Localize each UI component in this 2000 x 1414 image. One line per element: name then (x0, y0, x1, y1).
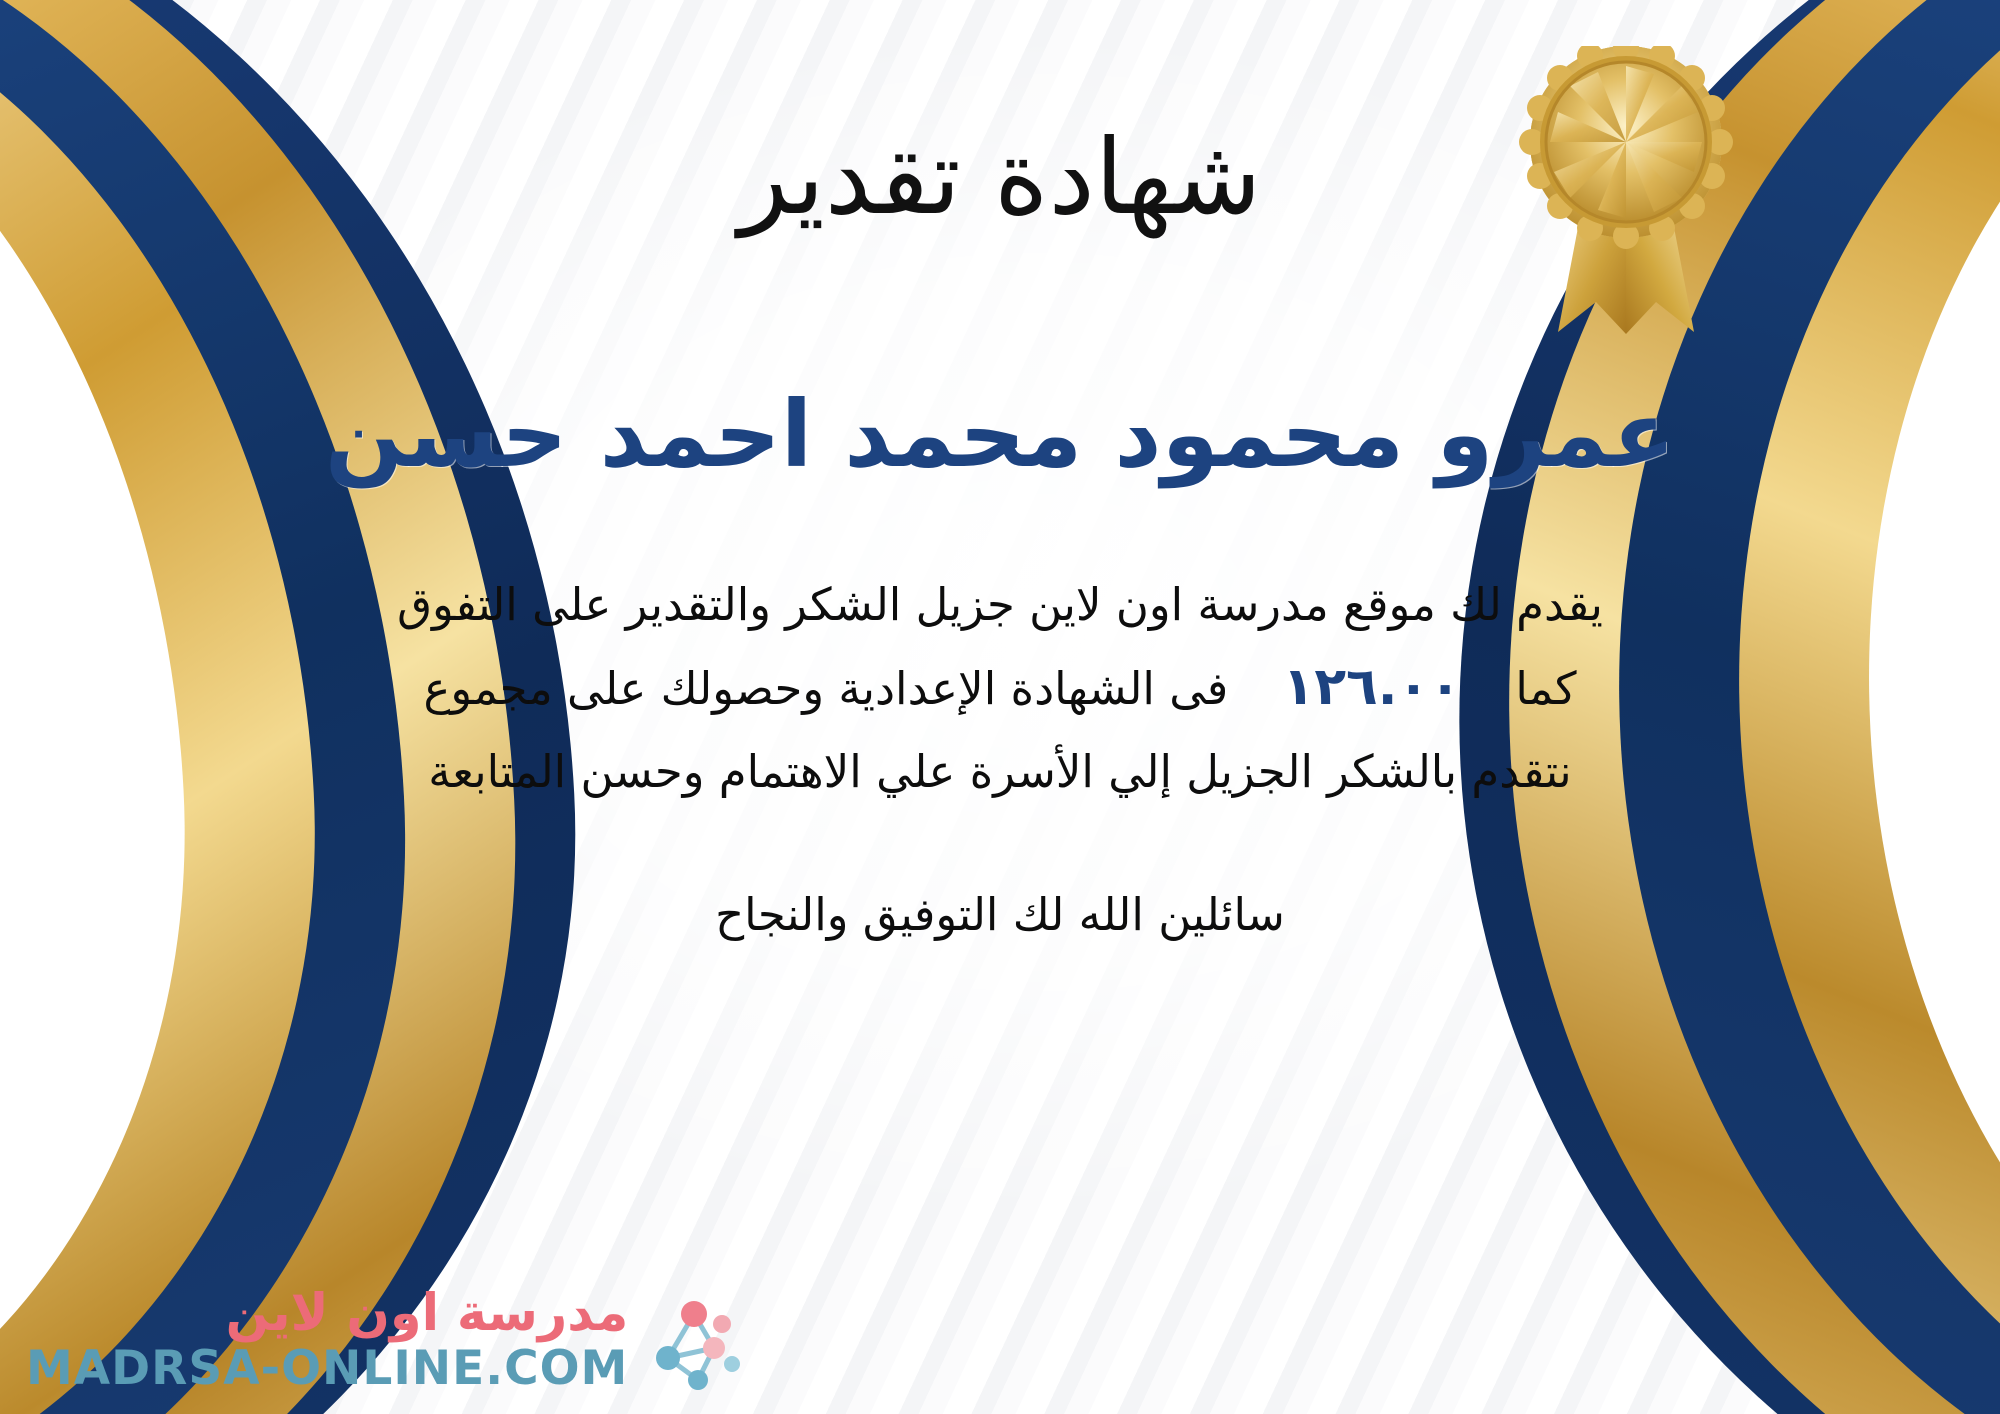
network-nodes-icon (638, 1288, 742, 1392)
brand-logo[interactable]: مدرسة اون لاين MADRSA-ONLINE.COM (26, 1288, 742, 1392)
student-name: عمرو محمود محمد احمد حسن (325, 380, 1675, 490)
closing-wish: سائلين الله لك التوفيق والنجاح (715, 888, 1285, 941)
gold-award-rosette-icon (1514, 46, 1738, 336)
certificate-page: شهادة تقدير عمرو محمود محمد احمد حسن يقد… (0, 0, 2000, 1414)
score-value: ١٢٦.٠٠ (1243, 657, 1501, 717)
body-line-1: يقدم لك موقع مدرسة اون لاين جزيل الشكر و… (220, 566, 1780, 643)
body-line-2-after: كما (1515, 662, 1576, 715)
body-line-3: نتقدم بالشكر الجزيل إلي الأسرة علي الاهت… (220, 733, 1780, 810)
logo-arabic-text: مدرسة اون لاين (26, 1288, 628, 1339)
body-line-2-before: فى الشهادة الإعدادية وحصولك على مجموع (423, 662, 1228, 715)
certificate-title: شهادة تقدير (738, 118, 1261, 238)
logo-domain-text: MADRSA-ONLINE.COM (26, 1345, 628, 1392)
body-line-2: كما ١٢٦.٠٠ فى الشهادة الإعدادية وحصولك ع… (220, 643, 1780, 732)
certificate-body: يقدم لك موقع مدرسة اون لاين جزيل الشكر و… (220, 566, 1780, 810)
